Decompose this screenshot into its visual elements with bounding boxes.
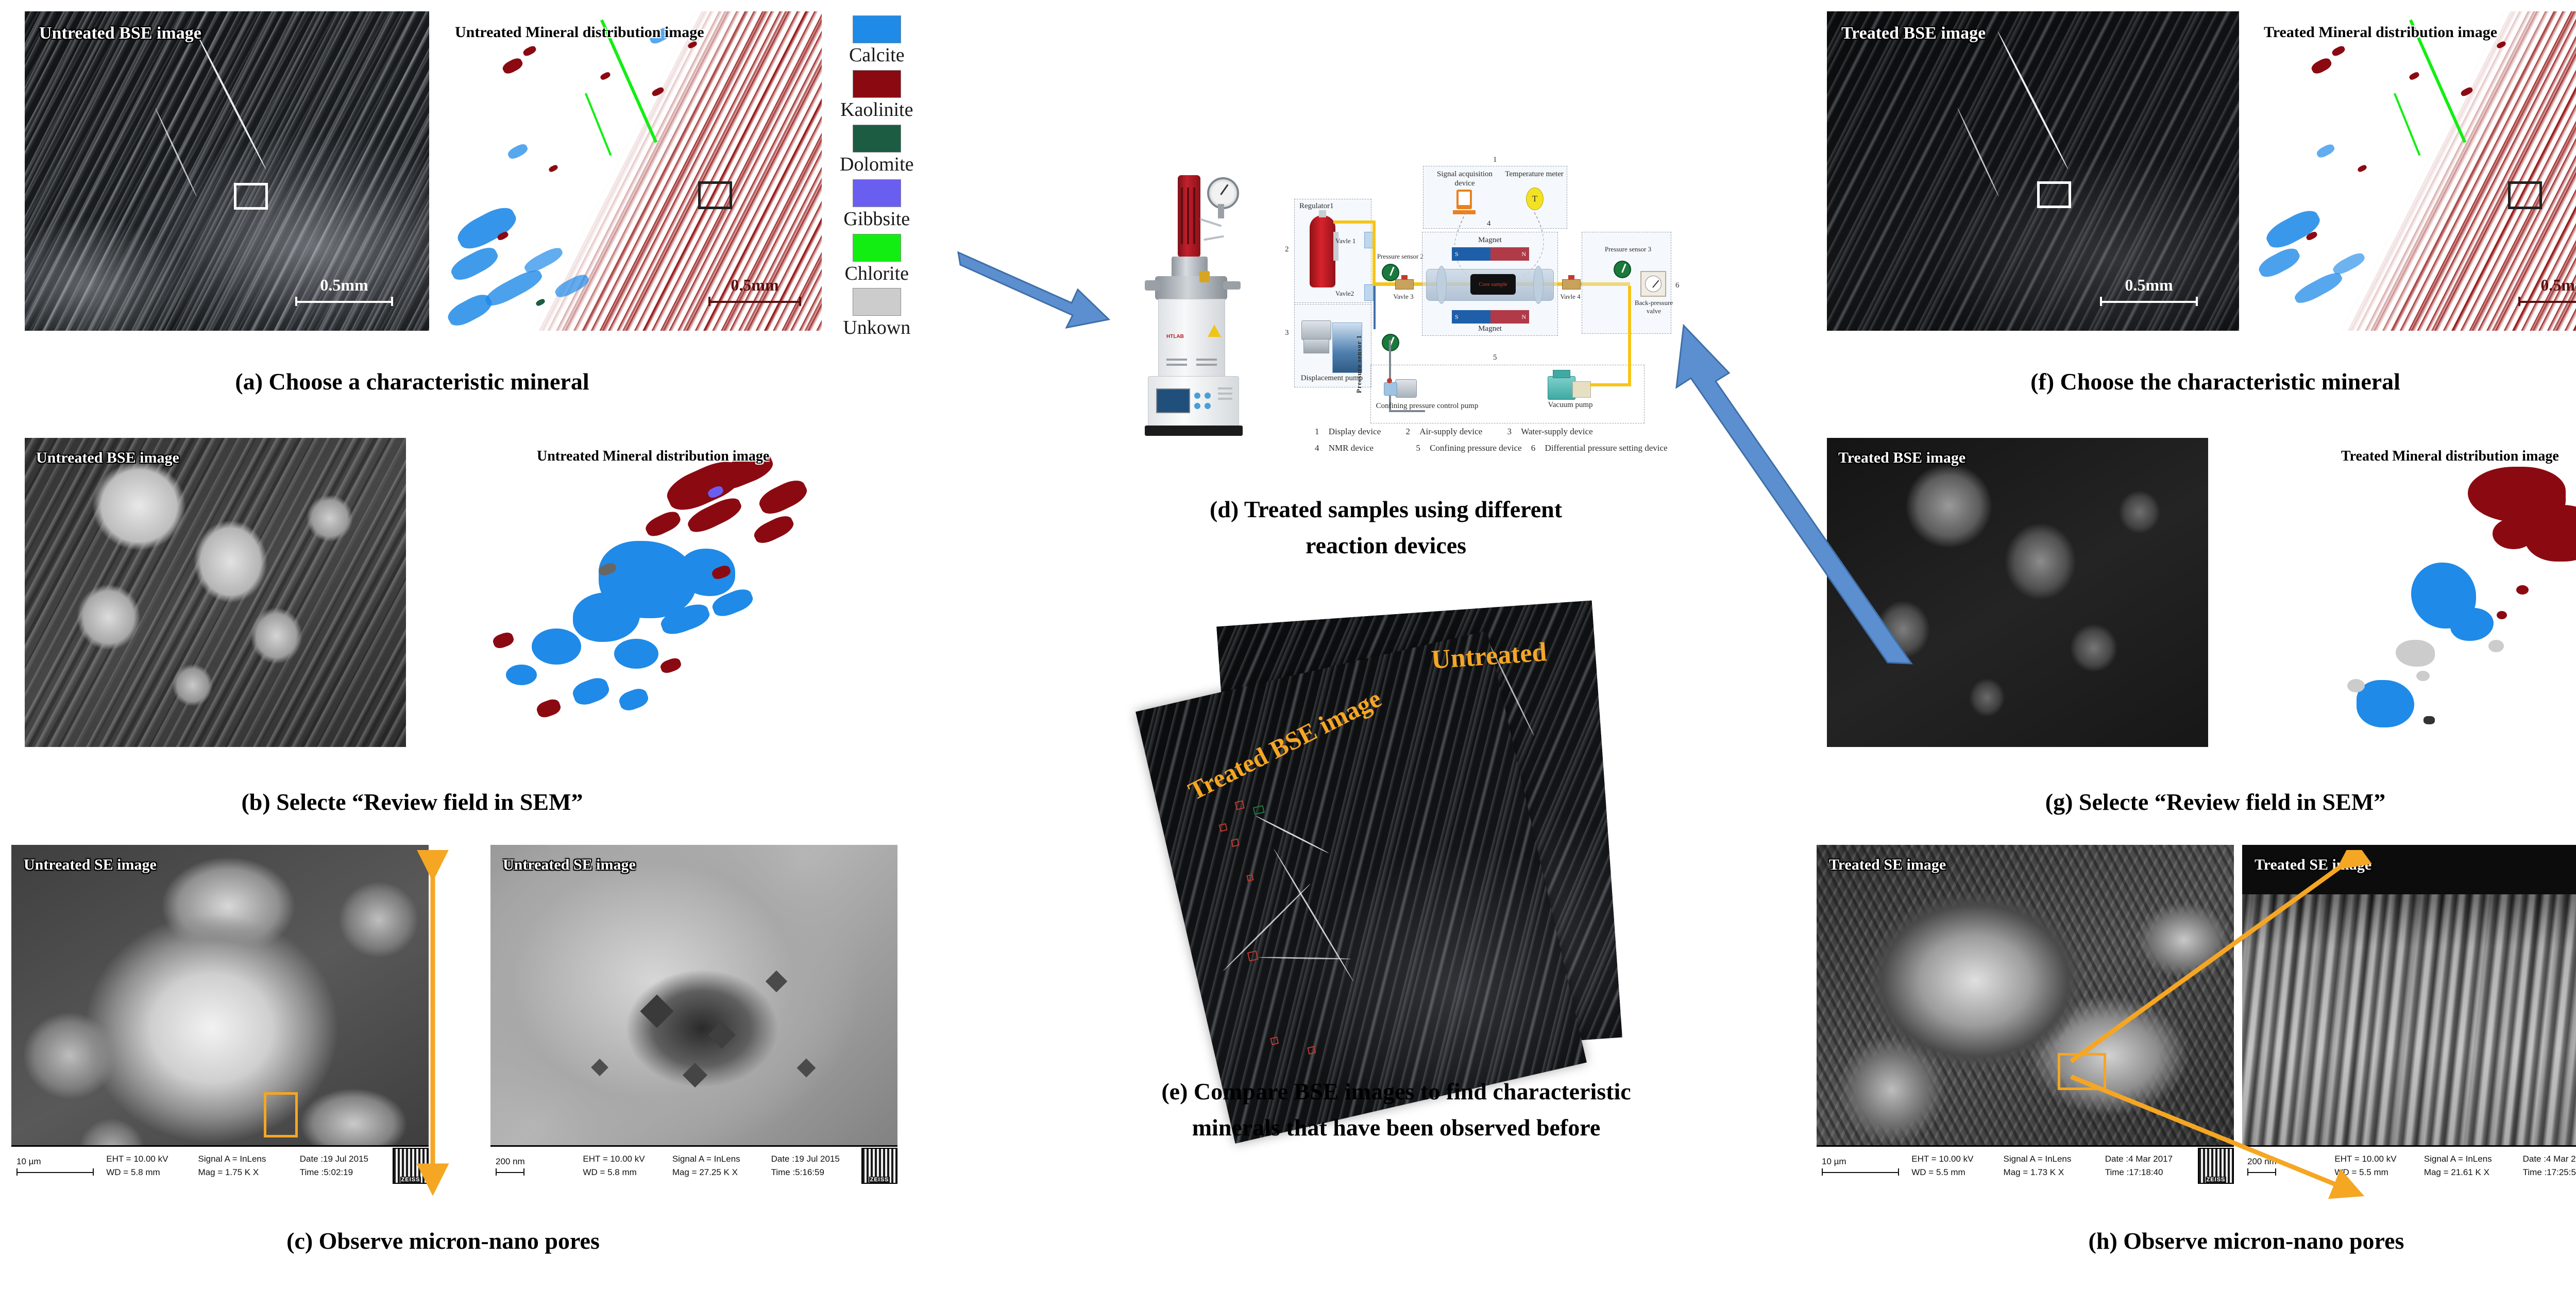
- nmr-displacement-schematic: 1 Signal acquisition device Temperature …: [1288, 155, 1700, 453]
- gas-cylinder-icon: [1310, 215, 1335, 287]
- panel-e-caption-line1: (e) Compare BSE images to find character…: [969, 1077, 1824, 1107]
- legend-swatch-unknown: [853, 288, 901, 316]
- panel-f-scale-bar: 0.5mm: [2100, 276, 2198, 306]
- panel-c-signal-right: Signal A = InLens: [672, 1152, 767, 1166]
- panel-e-caption-line2: minerals that have been observed before: [969, 1113, 1824, 1143]
- pressure-gauge-2-icon: [1382, 264, 1399, 281]
- panel-c-se-image-right: Untreated SE image 200 nm EHT = 10.00 kV…: [490, 845, 897, 1185]
- valve-3-icon: [1395, 279, 1414, 290]
- schematic-number-4: 4: [1487, 219, 1491, 228]
- panel-h-scale-left: 10 µm: [1822, 1157, 1909, 1167]
- panel-c-wd-left: WD = 5.8 mm: [106, 1166, 194, 1179]
- mineral-legend-left: Calcite Kaolinite Dolomite Gibbsite Chlo…: [840, 15, 914, 343]
- arrow-a-to-d: [954, 242, 1124, 345]
- panel-a-scale-bar: 0.5mm: [295, 276, 393, 306]
- panel-c-zoom-arrow: [273, 850, 489, 1200]
- schematic-label-back-pressure-valve-1: Back-pressure: [1628, 299, 1680, 307]
- panel-d-caption-line2: reaction devices: [1046, 531, 1726, 560]
- schematic-legend-num-6: 6: [1531, 443, 1536, 453]
- magnet-pole-s: S: [1452, 247, 1490, 261]
- panel-f-bse-image: Treated BSE image 0.5mm: [1827, 11, 2239, 331]
- panel-a-mineral-roi-box: [698, 181, 732, 209]
- panel-c-time-right: Time :5:16:59: [771, 1166, 856, 1179]
- displacement-pump-icon: [1301, 320, 1331, 340]
- legend-label-chlorite: Chlorite: [845, 264, 909, 284]
- panel-h-zoom-arrows: [2030, 850, 2411, 1211]
- panel-a-bse-label: Untreated BSE image: [39, 24, 201, 43]
- magnet-pole-s: S: [1452, 310, 1490, 324]
- legend-swatch-dolomite: [853, 125, 901, 152]
- schematic-number-2: 2: [1285, 245, 1289, 254]
- panel-g-mineral-label: Treated Mineral distribution image: [2341, 448, 2559, 465]
- schematic-label-pressure-sensor-3: Pressure sensor 3: [1592, 245, 1664, 253]
- schematic-legend-text-5: Confining pressure device: [1430, 443, 1521, 453]
- schematic-label-back-pressure-valve-2: valve: [1628, 307, 1680, 315]
- panel-g-mineral-image: Treated Mineral distribution image: [2246, 438, 2576, 747]
- panel-a-caption: (a) Choose a characteristic mineral: [72, 367, 752, 397]
- pressure-gauge-3-icon: [1614, 261, 1631, 278]
- panel-f-caption: (f) Choose the characteristic mineral: [1875, 367, 2555, 397]
- panel-h-signal-right: Signal A = InLens: [2424, 1152, 2519, 1166]
- schematic-legend-row-2: 4 NMR device 5 Confining pressure device…: [1315, 443, 1668, 453]
- schematic-legend-row-1: 1 Display device 2 Air-supply device 3 W…: [1315, 427, 1593, 437]
- magnet-pole-n: N: [1490, 310, 1529, 324]
- panel-f-mineral-roi-box: [2508, 181, 2542, 209]
- core-sample-label: Core sample: [1479, 281, 1507, 287]
- panel-h-caption: (h) Observe micron-nano pores: [1875, 1226, 2576, 1256]
- panel-b-mineral-image: Untreated Mineral distribution image: [444, 438, 825, 747]
- schematic-legend-text-6: Differential pressure setting device: [1545, 443, 1668, 453]
- panel-f-mineral-scale-text: 0.5mm: [2540, 276, 2576, 294]
- schematic-label-magnet-bottom: Magnet: [1464, 325, 1516, 333]
- panel-d-caption-line1: (d) Treated samples using different: [1046, 495, 1726, 524]
- schematic-legend-text-1: Display device: [1329, 427, 1381, 436]
- panel-c-se-label-right: Untreated SE image: [503, 856, 636, 874]
- schematic-legend-text-3: Water-supply device: [1521, 427, 1592, 436]
- panel-b-mineral-label: Untreated Mineral distribution image: [537, 448, 769, 465]
- panel-b-bse-image: Untreated BSE image: [25, 438, 406, 747]
- panel-a-mineral-image: Untreated Mineral distribution image 0.5…: [446, 11, 822, 331]
- panel-f-scale-text: 0.5mm: [2125, 276, 2173, 294]
- legend-label-unknown: Unkown: [843, 318, 910, 338]
- panel-a-mineral-scale-bar: 0.5mm: [708, 276, 801, 306]
- schematic-legend-num-3: 3: [1507, 427, 1512, 436]
- panel-h-eht-left: EHT = 10.00 kV: [1911, 1152, 1999, 1166]
- panel-a-mineral-label: Untreated Mineral distribution image: [455, 24, 704, 41]
- panel-c-scale-right: 200 nm: [496, 1157, 581, 1167]
- panel-c-wd-right: WD = 5.8 mm: [583, 1166, 668, 1179]
- panel-h-mag-right: Mag = 21.61 K X: [2424, 1166, 2519, 1179]
- magnet-bottom-icon: S N: [1452, 310, 1529, 324]
- panel-c-eht-right: EHT = 10.00 kV: [583, 1152, 668, 1166]
- schematic-legend-num-5: 5: [1416, 443, 1420, 453]
- panel-f-mineral-scale-bar: 0.5mm: [2518, 276, 2576, 306]
- panel-f-mineral-label: Treated Mineral distribution image: [2264, 24, 2497, 41]
- legend-swatch-chlorite: [853, 234, 901, 262]
- panel-a-bse-image: Untreated BSE image 0.5mm: [25, 11, 429, 331]
- schematic-label-signal-acq-2: device: [1431, 179, 1498, 188]
- schematic-number-3: 3: [1285, 329, 1289, 337]
- panel-f-roi-box: [2037, 181, 2071, 208]
- schematic-legend-num-2: 2: [1406, 427, 1411, 436]
- schematic-label-vacuum-pump: Vacuum pump: [1534, 401, 1606, 410]
- schematic-label-pressure-sensor-1: Pressure sensor 1: [1355, 335, 1365, 393]
- panel-h-wd-left: WD = 5.5 mm: [1911, 1166, 1999, 1179]
- panel-f-mineral-image: Treated Mineral distribution image 0.5mm: [2255, 11, 2576, 331]
- schematic-label-signal-acq-1: Signal acquisition: [1431, 170, 1498, 179]
- back-pressure-valve-icon: [1640, 271, 1666, 297]
- panel-c-date-right: Date :19 Jul 2015: [771, 1152, 856, 1166]
- panel-c-eht-left: EHT = 10.00 kV: [106, 1152, 194, 1166]
- schematic-label-regulator: Regulator1: [1299, 202, 1351, 211]
- schematic-label-temperature-meter: Temperature meter: [1503, 170, 1565, 179]
- schematic-label-magnet-top: Magnet: [1464, 236, 1516, 245]
- panel-c-mag-right: Mag = 27.25 K X: [672, 1166, 767, 1179]
- legend-swatch-gibbsite: [853, 179, 901, 207]
- main-pipeline: [1333, 220, 1376, 224]
- panel-h-date-right: Date :4 Mar 2017: [2523, 1152, 2576, 1166]
- panel-c-caption: (c) Observe micron-nano pores: [72, 1226, 814, 1256]
- schematic-number-1: 1: [1493, 156, 1497, 164]
- schematic-legend-num-1: 1: [1315, 427, 1319, 436]
- legend-label-calcite: Calcite: [849, 45, 905, 66]
- schematic-legend-text-2: Air-supply device: [1419, 427, 1482, 436]
- panel-h-se-label-left: Treated SE image: [1829, 856, 1946, 874]
- schematic-number-5: 5: [1493, 353, 1497, 362]
- magnet-pole-n: N: [1490, 247, 1529, 261]
- panel-a-mineral-scale-text: 0.5mm: [731, 276, 778, 294]
- zeiss-logo-text: ZEISS: [869, 1177, 890, 1183]
- panel-c-scale-left: 10 µm: [16, 1157, 104, 1167]
- core-sample-icon: Core sample: [1470, 274, 1516, 295]
- schematic-legend-num-4: 4: [1315, 443, 1319, 453]
- legend-label-dolomite: Dolomite: [840, 155, 914, 175]
- legend-label-kaolinite: Kaolinite: [840, 100, 913, 121]
- legend-swatch-calcite: [853, 15, 901, 43]
- schematic-label-confining-pump: Confining pressure control pump: [1360, 402, 1494, 411]
- temperature-meter-icon: T: [1526, 188, 1544, 210]
- panel-b-bse-label: Untreated BSE image: [36, 449, 179, 467]
- panel-h-time-right: Time :17:25:55: [2523, 1166, 2576, 1179]
- magnet-top-icon: S N: [1452, 247, 1529, 261]
- panel-f-bse-label: Treated BSE image: [1841, 24, 1986, 43]
- valve-4-icon: [1562, 279, 1581, 290]
- schematic-label-valve3: Vavle 3: [1387, 293, 1420, 301]
- panel-a-scale-text: 0.5mm: [320, 276, 368, 294]
- arrow-e-to-f: [1669, 319, 1917, 680]
- vacuum-pump-icon: [1548, 376, 1575, 400]
- confining-pump-icon: [1395, 379, 1417, 398]
- panel-a-roi-box: [234, 183, 268, 210]
- panel-c-sem-metadata-bar-right: 200 nm EHT = 10.00 kV WD = 5.8 mm Signal…: [490, 1145, 897, 1185]
- legend-label-gibbsite: Gibbsite: [843, 209, 910, 230]
- panel-g-caption: (g) Selecte “Review field in SEM”: [1875, 787, 2555, 817]
- panel-b-caption: (b) Selecte “Review field in SEM”: [72, 787, 752, 817]
- schematic-number-6: 6: [1675, 281, 1680, 290]
- panel-c-se-label-left: Untreated SE image: [24, 856, 157, 874]
- zeiss-logo-icon: ZEISS: [861, 1148, 897, 1184]
- temperature-symbol: T: [1532, 194, 1537, 204]
- legend-swatch-kaolinite: [853, 70, 901, 98]
- schematic-legend-text-4: NMR device: [1329, 443, 1374, 453]
- reactor-device-photo: HTLAB: [1122, 170, 1292, 443]
